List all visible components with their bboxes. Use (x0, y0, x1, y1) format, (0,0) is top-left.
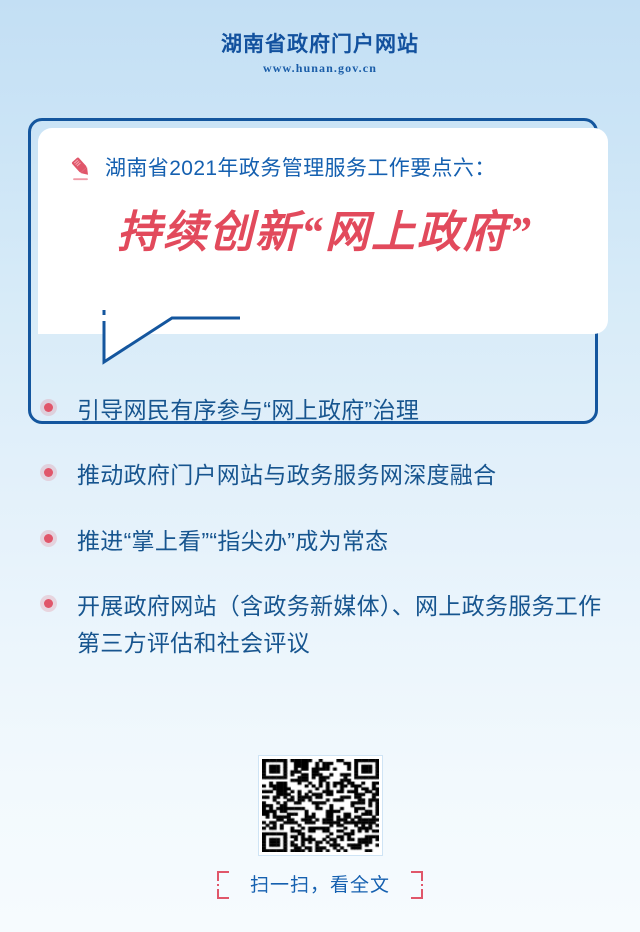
key-points-list: 引导网民有序参与“网上政府”治理 推动政府门户网站与政务服务网深度融合 推进“掌… (0, 392, 640, 662)
hero-text-block: 湖南省2021年政务管理服务工作要点六： 持续创新“网上政府” (38, 128, 608, 332)
bullet-dot-icon (44, 403, 53, 412)
qr-code[interactable] (258, 755, 383, 856)
bracket-left-icon (215, 870, 232, 900)
bullet-dot-icon (44, 534, 53, 543)
hero-subtitle: 湖南省2021年政务管理服务工作要点六： (105, 157, 496, 180)
pencil-icon (68, 156, 94, 182)
bracket-right-icon (408, 870, 425, 900)
list-item: 推进“掌上看”“指尖办”成为常态 (38, 523, 606, 560)
bullet-dot-icon (44, 468, 53, 477)
list-item: 开展政府网站（含政务新媒体）、网上政务服务工作第三方评估和社会评议 (38, 588, 606, 663)
list-item: 引导网民有序参与“网上政府”治理 (38, 392, 606, 429)
hero-subtitle-row: 湖南省2021年政务管理服务工作要点六： (68, 156, 582, 182)
hero-card-container: 湖南省2021年政务管理服务工作要点六： 持续创新“网上政府” (0, 110, 640, 370)
site-title: 湖南省政府门户网站 (221, 34, 419, 55)
scan-footer: 扫一扫，看全文 (0, 870, 640, 900)
list-item-text: 引导网民有序参与“网上政府”治理 (77, 392, 419, 429)
list-item: 推动政府门户网站与政务服务网深度融合 (38, 457, 606, 494)
page-header: 湖南省政府门户网站 www.hunan.gov.cn (0, 0, 640, 100)
list-item-text: 开展政府网站（含政务新媒体）、网上政务服务工作第三方评估和社会评议 (77, 588, 606, 663)
scan-label: 扫一扫，看全文 (250, 876, 390, 895)
list-item-text: 推动政府门户网站与政务服务网深度融合 (77, 457, 496, 494)
bullet-dot-icon (44, 599, 53, 608)
site-url: www.hunan.gov.cn (263, 62, 377, 74)
qr-code-image (262, 759, 379, 852)
hero-headline: 持续创新“网上政府” (68, 208, 582, 259)
list-item-text: 推进“掌上看”“指尖办”成为常态 (77, 523, 388, 560)
